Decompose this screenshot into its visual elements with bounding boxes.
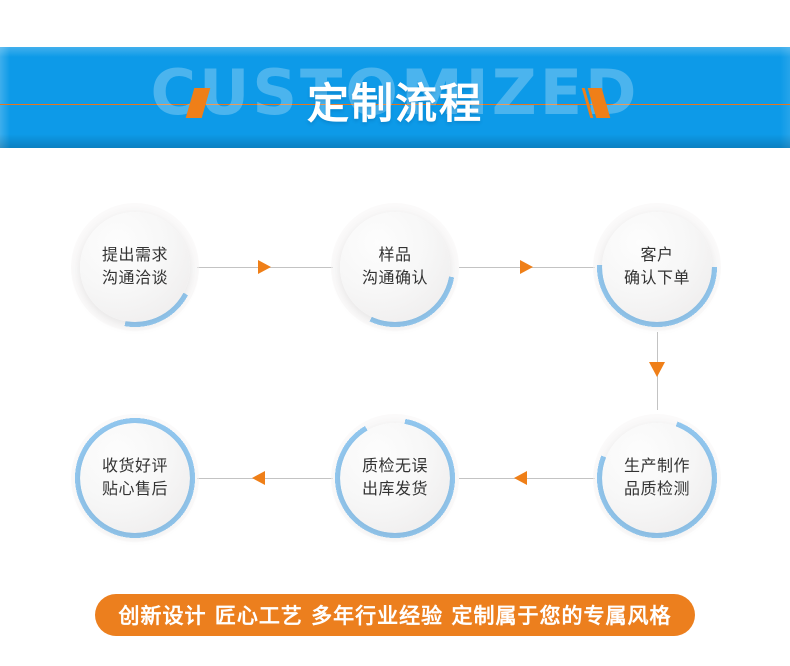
flow-step-1[interactable]: 提出需求 沟通洽谈	[73, 205, 197, 329]
step-2-label-line1: 样品	[378, 244, 411, 267]
flow-step-3[interactable]: 客户 确认下单	[595, 205, 719, 329]
footer-slogan-text: 创新设计 匠心工艺 多年行业经验 定制属于您的专属风格	[119, 600, 672, 630]
step-2-label-line2: 沟通确认	[362, 267, 428, 290]
step-2-label: 样品 沟通确认	[333, 205, 457, 329]
banner-bottom-shadow	[0, 134, 790, 148]
customization-flow-diagram: 提出需求 沟通洽谈 样品 沟通确认 客户 确认下单 生产制作 品质检测	[0, 148, 790, 588]
flow-step-6[interactable]: 收货好评 贴心售后	[73, 416, 197, 540]
step-3-label-line2: 确认下单	[624, 267, 690, 290]
flow-step-2[interactable]: 样品 沟通确认	[333, 205, 457, 329]
step-1-label-line2: 沟通洽谈	[102, 267, 168, 290]
step-4-label-line2: 品质检测	[624, 478, 690, 501]
arrow-step5-to-step6-icon	[252, 471, 265, 485]
step-4-label: 生产制作 品质检测	[595, 416, 719, 540]
flow-step-4[interactable]: 生产制作 品质检测	[595, 416, 719, 540]
step-6-label-line2: 贴心售后	[102, 478, 168, 501]
step-5-label-line2: 出库发货	[362, 478, 428, 501]
page-header-banner: CUSTOMIZED 定制流程	[0, 47, 790, 148]
step-3-label: 客户 确认下单	[595, 205, 719, 329]
step-5-label-line1: 质检无误	[362, 455, 428, 478]
step-3-label-line1: 客户	[640, 244, 673, 267]
step-1-label: 提出需求 沟通洽谈	[73, 205, 197, 329]
footer-slogan-banner: 创新设计 匠心工艺 多年行业经验 定制属于您的专属风格	[95, 594, 695, 636]
arrow-step4-to-step5-icon	[514, 471, 527, 485]
flow-step-5[interactable]: 质检无误 出库发货	[333, 416, 457, 540]
connector-step5-step6	[197, 478, 333, 479]
arrow-step3-to-step4-icon	[649, 362, 665, 377]
arrow-step2-to-step3-icon	[520, 260, 533, 274]
page-title: 定制流程	[0, 83, 790, 125]
step-5-label: 质检无误 出库发货	[333, 416, 457, 540]
step-4-label-line1: 生产制作	[624, 455, 690, 478]
step-1-label-line1: 提出需求	[102, 244, 168, 267]
step-6-label-line1: 收货好评	[102, 455, 168, 478]
step-6-label: 收货好评 贴心售后	[73, 416, 197, 540]
connector-step4-step5	[459, 478, 595, 479]
arrow-step1-to-step2-icon	[258, 260, 271, 274]
